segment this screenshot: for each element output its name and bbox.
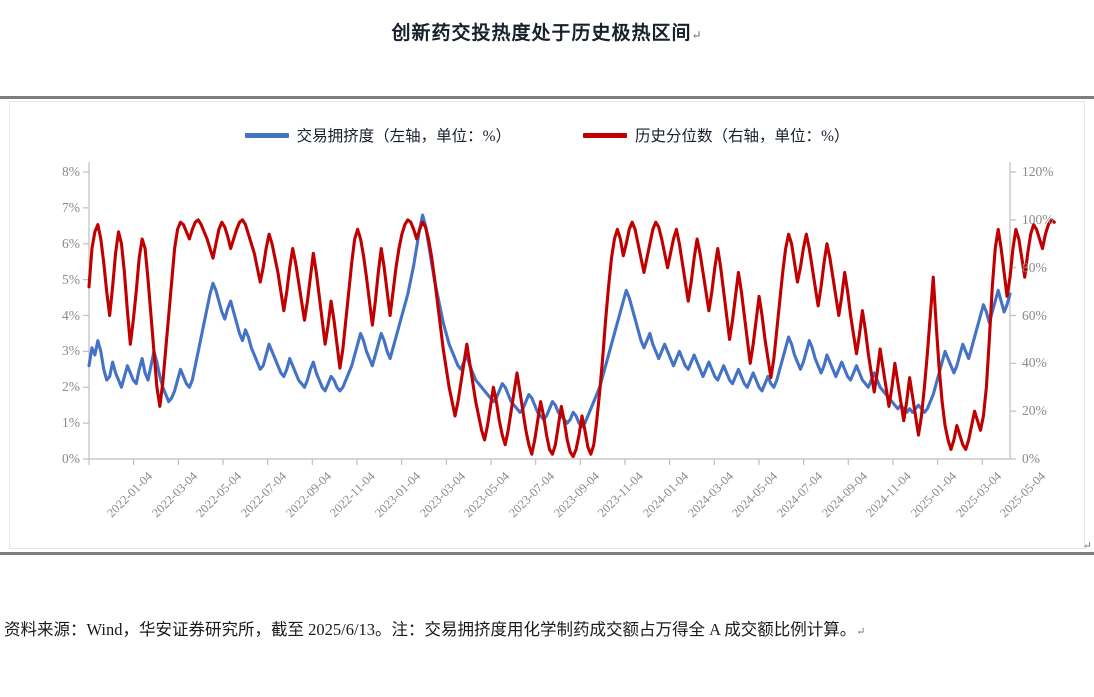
source-note: 资料来源：Wind，华安证券研究所，截至 2025/6/13。注：交易拥挤度用化… (4, 613, 1090, 649)
source-note-text: 资料来源：Wind，华安证券研究所，截至 2025/6/13。注：交易拥挤度用化… (4, 620, 856, 639)
left-axis-tick: 5% (32, 272, 80, 288)
right-axis-tick: 80% (1022, 260, 1047, 276)
left-axis-tick: 6% (32, 236, 80, 252)
source-paragraph-mark-icon: ↵ (856, 626, 865, 638)
left-axis-tick: 3% (32, 343, 80, 359)
page-title: 创新药交投热度处于历史极热区间↵ (0, 18, 1094, 45)
right-axis-tick: 0% (1022, 451, 1040, 467)
right-axis-tick: 60% (1022, 308, 1047, 324)
left-axis-tick: 7% (32, 200, 80, 216)
right-axis-tick: 120% (1022, 164, 1054, 180)
page-title-text: 创新药交投热度处于历史极热区间 (391, 23, 691, 44)
chart-bottom-rule: ↵ (0, 552, 1094, 555)
left-axis-tick: 0% (32, 451, 80, 467)
left-axis-tick: 1% (32, 415, 80, 431)
right-axis-tick: 20% (1022, 403, 1047, 419)
chart-container: 交易拥挤度（左轴，单位：%） 历史分位数（右轴，单位：%） 0%1%2%3%4%… (9, 101, 1085, 549)
left-axis-tick: 8% (32, 164, 80, 180)
right-axis-tick: 100% (1022, 212, 1054, 228)
left-axis-tick: 2% (32, 379, 80, 395)
right-axis-tick: 40% (1022, 355, 1047, 371)
chart-top-rule (0, 96, 1094, 99)
chart-page: 创新药交投热度处于历史极热区间↵ 交易拥挤度（左轴，单位：%） 历史分位数（右轴… (0, 0, 1094, 697)
paragraph-mark-icon: ↵ (691, 28, 702, 42)
paragraph-mark-end-icon: ↵ (1083, 539, 1092, 552)
plot-area: 0%1%2%3%4%5%6%7%8% 0%20%40%60%80%100%120… (10, 102, 1086, 550)
left-axis-tick: 4% (32, 308, 80, 324)
